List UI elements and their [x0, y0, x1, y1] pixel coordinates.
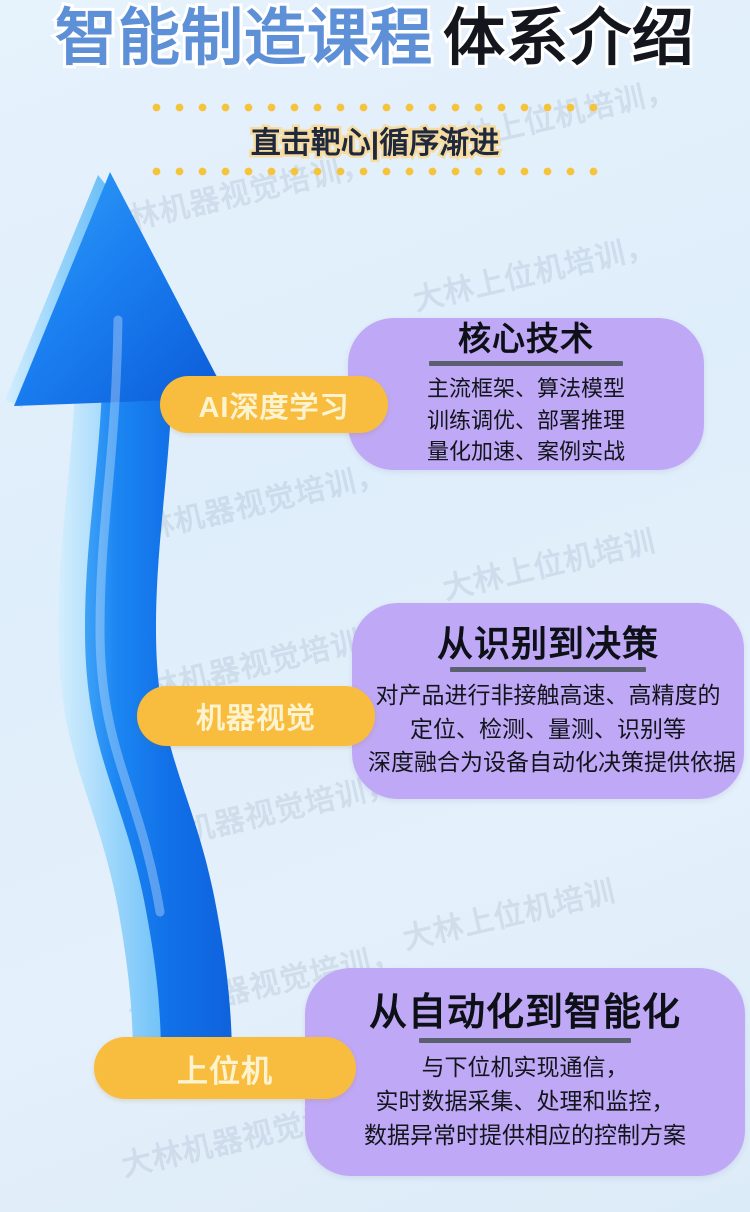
card-line: 数据异常时提供相应的控制方案 — [321, 1118, 729, 1152]
card-line: 量化加速、案例实战 — [364, 436, 688, 468]
pill-label: AI深度学习 — [198, 384, 349, 426]
title-underline — [450, 667, 646, 672]
title-underline — [419, 1038, 631, 1043]
title-rest: 体系介绍 — [443, 4, 695, 73]
watermark-text: 大林上位机培训 — [398, 866, 619, 958]
upward-growth-arrow-icon — [0, 160, 330, 1070]
card-title: 从识别到决策 — [368, 623, 728, 664]
infographic-poster: 大林上位机培训，大林机器视觉培训，大林上位机培训，大林机器视觉培训，大林机器视觉… — [0, 0, 750, 1212]
card-body: 与下位机实现通信， 实时数据采集、处理和监控， 数据异常时提供相应的控制方案 — [321, 1050, 729, 1152]
dotted-divider-bottom — [145, 167, 605, 176]
title-underline — [429, 361, 623, 366]
card-line: 训练调优、部署推理 — [364, 405, 688, 437]
subtitle-block: 直击靶心|循序渐进 — [0, 103, 750, 176]
card-body: 对产品进行非接触高速、高精度的 定位、检测、量测、识别等 深度融合为设备自动化决… — [368, 679, 728, 779]
card-line: 实时数据采集、处理和监控， — [321, 1084, 729, 1118]
dotted-divider-top — [145, 103, 605, 112]
card-line: 定位、检测、量测、识别等 — [368, 713, 728, 746]
stage-pill-machine-vision[interactable]: 机器视觉 — [137, 686, 375, 746]
stage-card-core-technology[interactable]: 核心技术 主流框架、算法模型 训练调优、部署推理 量化加速、案例实战 — [348, 318, 704, 470]
card-title: 从自动化到智能化 — [321, 992, 729, 1036]
card-line: 深度融合为设备自动化决策提供依据 — [368, 746, 728, 779]
title-highlight: 智能制造课程 — [55, 4, 433, 73]
card-line: 与下位机实现通信， — [321, 1050, 729, 1084]
page-title: 智能制造课程体系介绍 — [0, 6, 750, 71]
pill-label: 机器视觉 — [196, 695, 316, 737]
card-body: 主流框架、算法模型 训练调优、部署推理 量化加速、案例实战 — [364, 373, 688, 469]
watermark-text: 大林上位机培训， — [408, 221, 660, 320]
subtitle-text: 直击靶心|循序渐进 — [0, 118, 750, 162]
card-title: 核心技术 — [364, 320, 688, 358]
stage-card-automation[interactable]: 从自动化到智能化 与下位机实现通信， 实时数据采集、处理和监控， 数据异常时提供… — [305, 968, 745, 1176]
stage-pill-hmi-host-computer[interactable]: 上位机 — [94, 1037, 356, 1099]
card-line: 主流框架、算法模型 — [364, 373, 688, 405]
card-line: 对产品进行非接触高速、高精度的 — [368, 679, 728, 712]
watermark-text: 大林上位机培训 — [438, 516, 659, 608]
stage-card-machine-vision[interactable]: 从识别到决策 对产品进行非接触高速、高精度的 定位、检测、量测、识别等 深度融合… — [352, 603, 744, 799]
pill-label: 上位机 — [177, 1046, 273, 1091]
stage-pill-ai-deep-learning[interactable]: AI深度学习 — [160, 376, 388, 433]
